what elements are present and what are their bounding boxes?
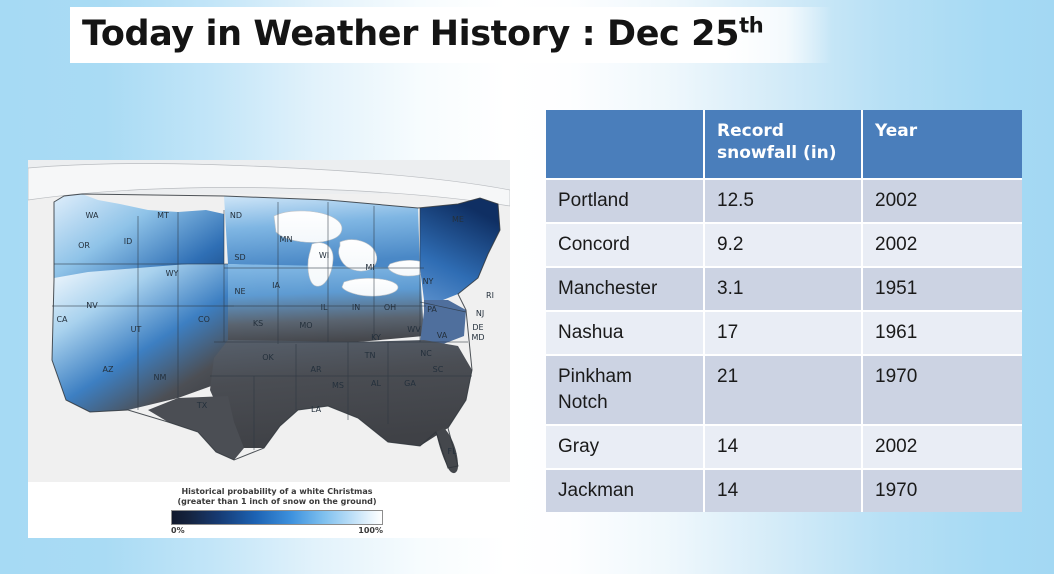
svg-text:FL: FL bbox=[447, 447, 457, 456]
cell-year: 2002 bbox=[863, 426, 1022, 470]
svg-text:ID: ID bbox=[124, 237, 133, 246]
svg-text:NC: NC bbox=[420, 349, 432, 358]
cell-snowfall: 14 bbox=[705, 426, 863, 470]
cell-year: 1961 bbox=[863, 312, 1022, 356]
svg-text:OK: OK bbox=[262, 353, 274, 362]
cell-snowfall-text: 21 bbox=[717, 366, 738, 387]
svg-text:AR: AR bbox=[310, 365, 321, 374]
svg-text:CO: CO bbox=[198, 315, 210, 324]
cell-snowfall-text: 14 bbox=[717, 436, 738, 457]
svg-text:ND: ND bbox=[230, 211, 242, 220]
record-snowfall-table: Record snowfall (in) Year Portland 12.5 … bbox=[546, 110, 1022, 512]
svg-text:NV: NV bbox=[86, 301, 98, 310]
svg-text:GA: GA bbox=[404, 379, 416, 388]
cell-year: 2002 bbox=[863, 224, 1022, 268]
svg-text:MI: MI bbox=[365, 263, 374, 272]
white-christmas-probability-map: WA MT ND ME OR ID SD MN WI MI NY WY IA N… bbox=[28, 160, 510, 482]
svg-text:PA: PA bbox=[427, 305, 437, 314]
table-header-row: Record snowfall (in) Year bbox=[546, 110, 1022, 180]
svg-text:WV: WV bbox=[407, 325, 421, 334]
svg-text:NM: NM bbox=[154, 373, 167, 382]
svg-text:LA: LA bbox=[311, 405, 322, 414]
cell-year-text: 2002 bbox=[875, 436, 917, 457]
cell-location: Gray bbox=[546, 426, 705, 470]
page-title-main: Today in Weather History : Dec 25 bbox=[82, 14, 739, 54]
cell-location: Jackman bbox=[546, 470, 705, 512]
svg-text:VA: VA bbox=[437, 331, 448, 340]
cell-year: 1970 bbox=[863, 470, 1022, 512]
svg-text:RI: RI bbox=[486, 291, 494, 300]
svg-text:NY: NY bbox=[423, 277, 434, 286]
cell-year-text: 1970 bbox=[875, 480, 917, 501]
table-row: Pinkham Notch 21 1970 bbox=[546, 356, 1022, 426]
cell-year: 1970 bbox=[863, 356, 1022, 426]
svg-text:SD: SD bbox=[234, 253, 245, 262]
column-header-year: Year bbox=[863, 110, 1022, 180]
cell-snowfall-text: 12.5 bbox=[717, 190, 754, 211]
cell-snowfall: 17 bbox=[705, 312, 863, 356]
svg-text:MT: MT bbox=[157, 211, 169, 220]
svg-text:MD: MD bbox=[471, 333, 484, 342]
cell-snowfall-text: 9.2 bbox=[717, 234, 743, 255]
map-legend: Historical probability of a white Christ… bbox=[28, 482, 510, 538]
table-row: Portland 12.5 2002 bbox=[546, 180, 1022, 224]
cell-year: 2002 bbox=[863, 180, 1022, 224]
svg-text:TX: TX bbox=[196, 401, 208, 410]
cell-location: Portland bbox=[546, 180, 705, 224]
cell-snowfall-text: 3.1 bbox=[717, 278, 743, 299]
svg-text:KY: KY bbox=[371, 333, 381, 342]
svg-text:ME: ME bbox=[452, 215, 464, 224]
cell-snowfall-text: 14 bbox=[717, 480, 738, 501]
legend-tick-row: 0% 100% bbox=[171, 526, 383, 538]
cell-snowfall: 21 bbox=[705, 356, 863, 426]
svg-text:TN: TN bbox=[364, 351, 376, 360]
legend-title-line2: (greater than 1 inch of snow on the grou… bbox=[171, 497, 383, 507]
cell-location-text: Pinkham Notch bbox=[558, 366, 632, 413]
cell-year-text: 1970 bbox=[875, 366, 917, 387]
table-row: Concord 9.2 2002 bbox=[546, 224, 1022, 268]
column-header-snowfall: Record snowfall (in) bbox=[705, 110, 863, 180]
svg-text:AL: AL bbox=[371, 379, 381, 388]
svg-text:AZ: AZ bbox=[103, 365, 114, 374]
svg-text:IN: IN bbox=[352, 303, 360, 312]
svg-text:WY: WY bbox=[166, 269, 179, 278]
cell-location: Pinkham Notch bbox=[546, 356, 705, 426]
cell-year-text: 1961 bbox=[875, 322, 917, 343]
svg-text:CA: CA bbox=[56, 315, 68, 324]
cell-snowfall: 12.5 bbox=[705, 180, 863, 224]
usa-map-graphic: WA MT ND ME OR ID SD MN WI MI NY WY IA N… bbox=[28, 160, 510, 482]
cell-snowfall: 3.1 bbox=[705, 268, 863, 312]
column-header-snowfall-label: Record snowfall (in) bbox=[717, 121, 837, 163]
svg-text:IL: IL bbox=[321, 303, 328, 312]
svg-text:SC: SC bbox=[433, 365, 444, 374]
legend-gradient-bar bbox=[171, 510, 383, 525]
svg-text:NE: NE bbox=[234, 287, 245, 296]
cell-year: 1951 bbox=[863, 268, 1022, 312]
cell-year-text: 1951 bbox=[875, 278, 917, 299]
svg-text:MO: MO bbox=[299, 321, 312, 330]
cell-location: Manchester bbox=[546, 268, 705, 312]
table-row: Gray 14 2002 bbox=[546, 426, 1022, 470]
svg-text:DE: DE bbox=[472, 323, 483, 332]
cell-snowfall: 14 bbox=[705, 470, 863, 512]
svg-text:NJ: NJ bbox=[476, 309, 484, 318]
page-title-ordinal-suffix: th bbox=[739, 13, 763, 37]
table-row: Nashua 17 1961 bbox=[546, 312, 1022, 356]
cell-location: Concord bbox=[546, 224, 705, 268]
svg-text:WA: WA bbox=[86, 211, 99, 220]
cell-snowfall: 9.2 bbox=[705, 224, 863, 268]
page-title: Today in Weather History : Dec 25th bbox=[82, 12, 763, 56]
svg-text:MS: MS bbox=[332, 381, 344, 390]
cell-location: Nashua bbox=[546, 312, 705, 356]
table-row: Manchester 3.1 1951 bbox=[546, 268, 1022, 312]
cell-location-text: Manchester bbox=[558, 278, 657, 299]
column-header-year-label: Year bbox=[875, 121, 917, 141]
svg-text:MN: MN bbox=[280, 235, 293, 244]
svg-text:OH: OH bbox=[384, 303, 396, 312]
svg-text:WI: WI bbox=[319, 251, 329, 260]
cell-location-text: Portland bbox=[558, 190, 629, 211]
legend-tick-min: 0% bbox=[171, 526, 185, 535]
map-card: WA MT ND ME OR ID SD MN WI MI NY WY IA N… bbox=[28, 160, 510, 538]
table-row: Jackman 14 1970 bbox=[546, 470, 1022, 512]
legend-tick-max: 100% bbox=[358, 526, 383, 535]
cell-snowfall-text: 17 bbox=[717, 322, 738, 343]
legend-title-line1: Historical probability of a white Christ… bbox=[171, 487, 383, 497]
column-header-location bbox=[546, 110, 705, 180]
cell-location-text: Gray bbox=[558, 436, 599, 457]
svg-text:KS: KS bbox=[253, 319, 263, 328]
slide-canvas: Today in Weather History : Dec 25th bbox=[0, 0, 1054, 574]
svg-text:IA: IA bbox=[272, 281, 280, 290]
svg-text:OR: OR bbox=[78, 241, 90, 250]
cell-location-text: Nashua bbox=[558, 322, 624, 343]
cell-location-text: Jackman bbox=[558, 480, 634, 501]
cell-location-text: Concord bbox=[558, 234, 630, 255]
cell-year-text: 2002 bbox=[875, 234, 917, 255]
cell-year-text: 2002 bbox=[875, 190, 917, 211]
svg-text:UT: UT bbox=[131, 325, 142, 334]
